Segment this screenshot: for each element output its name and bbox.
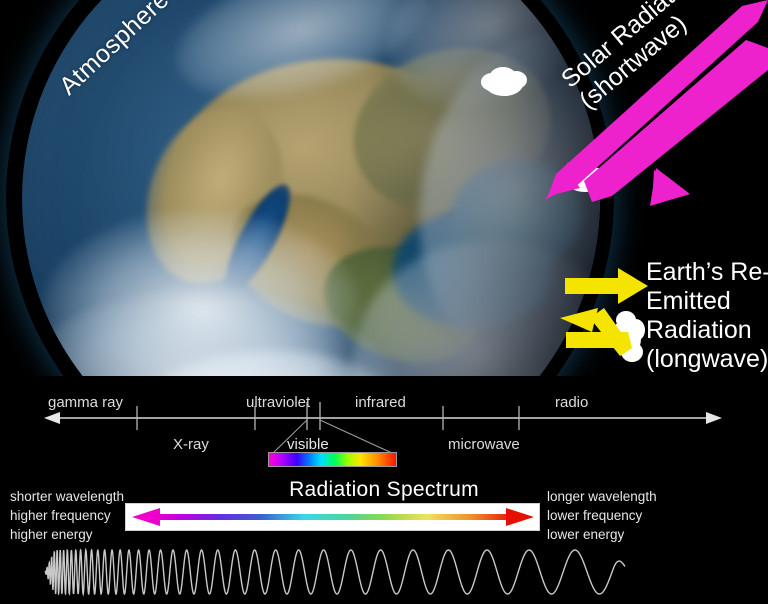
left-text-line2: higher frequency: [10, 506, 124, 525]
reemitted-radiation-label-line1: Earth’s Re-: [646, 258, 768, 287]
reemitted-radiation-label-line4: (longwave): [646, 345, 768, 374]
visible-spectrum-bar: [268, 452, 397, 467]
cloud-puff-lower: [611, 311, 645, 362]
chirp-waveform: [0, 540, 768, 604]
wavelength-gradient-box: [125, 503, 540, 531]
reemitted-radiation-label: Earth’s Re- Emitted Radiation (longwave): [646, 258, 768, 374]
reemitted-radiation-label-line3: Radiation: [646, 316, 768, 345]
axis-arrowhead-right: [706, 412, 722, 424]
visible-leader-lines: [272, 420, 394, 454]
right-text-line1: longer wavelength: [547, 487, 657, 506]
right-text-line2: lower frequency: [547, 506, 657, 525]
shorter-wavelength-text: shorter wavelength higher frequency high…: [10, 487, 124, 544]
axis-arrowhead-left: [44, 412, 60, 424]
reemitted-radiation-label-line2: Emitted: [646, 287, 768, 316]
gradient-arrowhead-right: [506, 508, 534, 526]
left-text-line1: shorter wavelength: [10, 487, 124, 506]
axis-ticks: [137, 402, 519, 430]
wavelength-gradient-arrow: [126, 504, 539, 530]
solar-arrowhead-lower: [650, 168, 690, 206]
earth-photo-panel: Atmosphere: [0, 0, 768, 376]
diagram-canvas: Atmosphere: [0, 0, 768, 604]
longer-wavelength-text: longer wavelength lower frequency lower …: [547, 487, 657, 544]
gradient-arrowhead-left: [132, 508, 160, 526]
